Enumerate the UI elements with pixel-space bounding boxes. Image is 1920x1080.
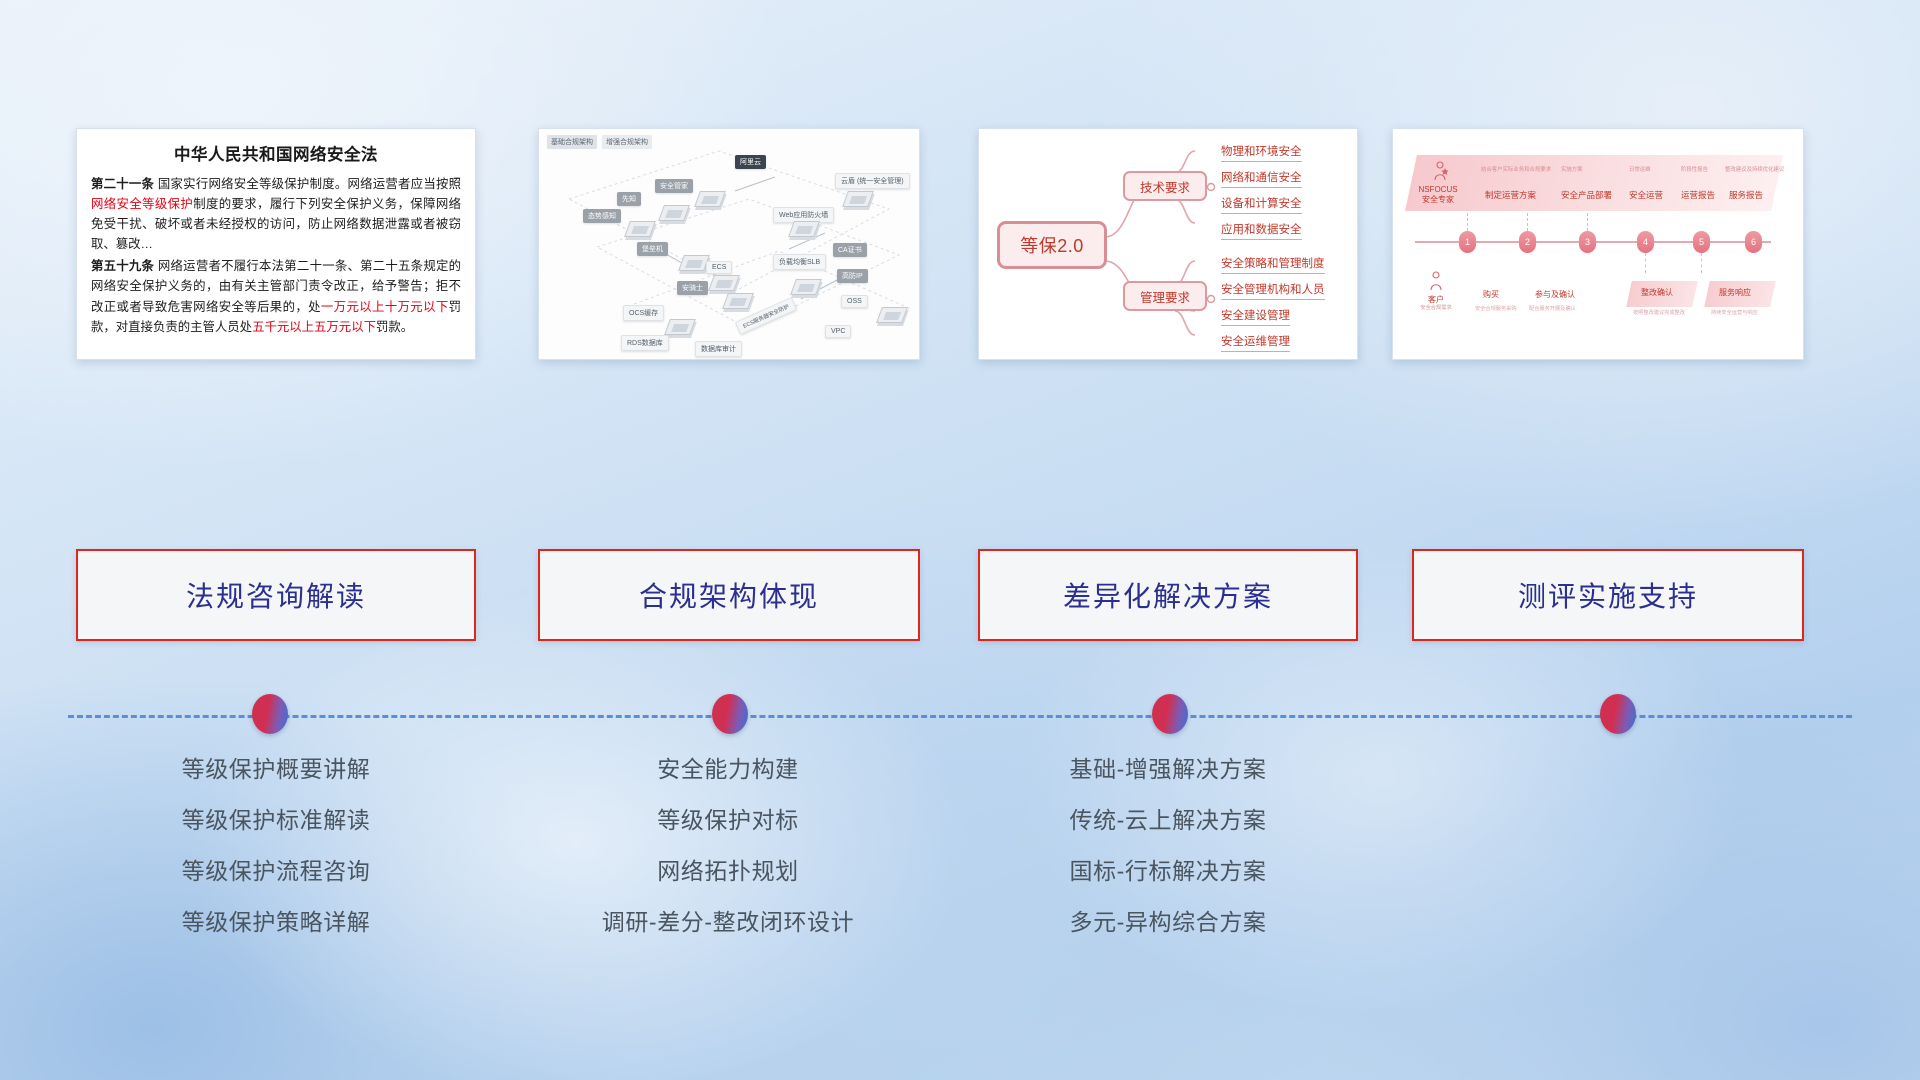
node-ecs: ECS bbox=[706, 261, 732, 274]
node-oss: OSS bbox=[841, 295, 868, 308]
list-item: 安全能力构建 bbox=[528, 744, 928, 795]
step-marker-4: 4 bbox=[1637, 231, 1654, 253]
mindmap-leaf-ops-mgmt: 安全运维管理 bbox=[1221, 333, 1290, 352]
expert-person-icon bbox=[1433, 161, 1449, 181]
node-aliyun: 阿里云 bbox=[735, 155, 766, 169]
node-bastion-host: 堡垒机 bbox=[637, 242, 668, 256]
article-21-text-1: 国家实行网络安全等级保护制度。网络运营者应当按照 bbox=[154, 177, 461, 191]
step-marker-1: 1 bbox=[1459, 231, 1476, 253]
list-item: 等级保护策略详解 bbox=[76, 897, 476, 948]
section-title-box-3[interactable]: 差异化解决方案 bbox=[978, 549, 1358, 641]
step-marker-6: 6 bbox=[1745, 231, 1762, 253]
list-item: 调研-差分-整改闭环设计 bbox=[528, 897, 928, 948]
architecture-diagram: 基础合规架构 增强合规架构 阿里云 bbox=[539, 129, 919, 359]
step-marker-5: 5 bbox=[1693, 231, 1710, 253]
bottom-item-title-1: 购买 bbox=[1483, 289, 1499, 300]
list-item: 等级保护流程咨询 bbox=[76, 846, 476, 897]
article-21-highlight: 网络安全等级保护 bbox=[91, 197, 193, 211]
mindmap-leaf-device-compute: 设备和计算安全 bbox=[1221, 195, 1302, 214]
top-item-sub-2: 实施方案 bbox=[1561, 165, 1583, 173]
card-compliance-architecture[interactable]: 基础合规架构 增强合规架构 阿里云 bbox=[538, 128, 920, 360]
timeline-dashed-line bbox=[68, 715, 1852, 718]
customer-label: 客户 安全合规需求 bbox=[1407, 295, 1465, 312]
list-item: 等级保护标准解读 bbox=[76, 795, 476, 846]
bottom-item-title-3: 整改确认 bbox=[1641, 287, 1673, 298]
node-situation-awareness: 态势感知 bbox=[583, 209, 621, 223]
timeline-node-2[interactable] bbox=[712, 694, 748, 734]
node-security-butler: 安全管家 bbox=[655, 179, 693, 193]
mindmap-root: 等保2.0 bbox=[997, 221, 1107, 269]
top-item-title-3: 安全运营 bbox=[1629, 189, 1663, 201]
list-item: 等级保护对标 bbox=[528, 795, 928, 846]
top-item-title-4: 运营报告 bbox=[1681, 189, 1715, 201]
top-item-sub-3: 日常运维 bbox=[1629, 165, 1651, 173]
detail-column-1: 等级保护概要讲解 等级保护标准解读 等级保护流程咨询 等级保护策略详解 bbox=[76, 744, 476, 948]
list-item: 基础-增强解决方案 bbox=[968, 744, 1368, 795]
section-title-box-4[interactable]: 测评实施支持 bbox=[1412, 549, 1804, 641]
mindmap-leaf-construction-mgmt: 安全建设管理 bbox=[1221, 307, 1290, 326]
node-database-audit: 数据库审计 bbox=[695, 341, 742, 357]
list-item: 多元-异构综合方案 bbox=[968, 897, 1368, 948]
top-item-title-5: 服务报告 bbox=[1729, 189, 1763, 201]
section-detail-lists: 等级保护概要讲解 等级保护标准解读 等级保护流程咨询 等级保护策略详解 安全能力… bbox=[0, 744, 1920, 944]
detail-column-2: 安全能力构建 等级保护对标 网络拓扑规划 调研-差分-整改闭环设计 bbox=[528, 744, 928, 948]
top-item-title-1: 制定运营方案 bbox=[1485, 189, 1536, 201]
article-21-label: 第二十一条 bbox=[91, 177, 154, 191]
section-title-box-2[interactable]: 合规架构体现 bbox=[538, 549, 920, 641]
law-heading: 中华人民共和国网络安全法 bbox=[91, 141, 461, 165]
mindmap-diagram: 等保2.0 技术要求 物理和环境安全 网络和通信安全 设备和计算安全 应用和数据… bbox=[979, 129, 1357, 359]
bottom-item-sub-4: 持续安全运营与响应 bbox=[1711, 309, 1758, 316]
bottom-item-title-2: 参与及确认 bbox=[1535, 289, 1575, 300]
list-item: 网络拓扑规划 bbox=[528, 846, 928, 897]
node-vpc: VPC bbox=[825, 325, 851, 338]
mindmap-leaf-app-data: 应用和数据安全 bbox=[1221, 221, 1302, 240]
top-item-sub-1: 结合客户实际业务和合规要求 bbox=[1481, 165, 1551, 173]
customer-person-icon bbox=[1429, 271, 1445, 291]
mindmap-leaf-policy-system: 安全策略和管理制度 bbox=[1221, 255, 1325, 274]
node-anqishi: 安骑士 bbox=[677, 281, 708, 295]
mindmap-leaf-network-comm: 网络和通信安全 bbox=[1221, 169, 1302, 188]
node-xianzhi: 先知 bbox=[617, 192, 641, 206]
list-item: 国标-行标解决方案 bbox=[968, 846, 1368, 897]
card-cybersecurity-law[interactable]: 中华人民共和国网络安全法 第二十一条 国家实行网络安全等级保护制度。网络运营者应… bbox=[76, 128, 476, 360]
node-ocs-cache: OCS缓存 bbox=[623, 305, 664, 321]
timeline-node-1[interactable] bbox=[252, 694, 288, 734]
mindmap-branch-management: 管理要求 bbox=[1123, 281, 1207, 311]
node-anti-ddos-ip: 高防IP bbox=[837, 269, 868, 283]
top-item-sub-5: 整改建议及持续优化建议 bbox=[1725, 165, 1784, 173]
node-cloud-shield: 云盾 (统一安全管理) bbox=[835, 173, 910, 189]
illustration-card-row: 中华人民共和国网络安全法 第二十一条 国家实行网络安全等级保护制度。网络运营者应… bbox=[0, 128, 1920, 360]
top-item-title-2: 安全产品部署 bbox=[1561, 189, 1612, 201]
article-59-text-3: 罚款。 bbox=[376, 320, 413, 334]
card-nsfocus-service-flow[interactable]: NSFOCUS 安全专家 结合客户实际业务和合规要求 制定运营方案 实施方案 安… bbox=[1392, 128, 1804, 360]
article-59-highlight-2: 五千元以上五万元以下 bbox=[252, 320, 376, 334]
connector-dash-4 bbox=[1645, 253, 1646, 273]
bottom-item-sub-1: 安全合规服务采购 bbox=[1475, 305, 1517, 312]
step-marker-3: 3 bbox=[1579, 231, 1596, 253]
list-item: 等级保护概要讲解 bbox=[76, 744, 476, 795]
timeline-node-3[interactable] bbox=[1152, 694, 1188, 734]
section-title-label-3: 差异化解决方案 bbox=[1063, 575, 1273, 615]
node-ca-certificate: CA证书 bbox=[833, 243, 867, 257]
node-load-balancer-slb: 负载均衡SLB bbox=[773, 254, 826, 270]
node-rds-database: RDS数据库 bbox=[621, 335, 669, 351]
connector-dash-2 bbox=[1527, 213, 1528, 231]
timeline-node-4[interactable] bbox=[1600, 694, 1636, 734]
detail-column-3: 基础-增强解决方案 传统-云上解决方案 国标-行标解决方案 多元-异构综合方案 bbox=[968, 744, 1368, 948]
list-item: 传统-云上解决方案 bbox=[968, 795, 1368, 846]
section-title-row: 法规咨询解读 合规架构体现 差异化解决方案 测评实施支持 bbox=[0, 549, 1920, 641]
connector-dash-3 bbox=[1587, 213, 1588, 231]
expert-name: NSFOCUS bbox=[1407, 185, 1469, 195]
connector-dash-5 bbox=[1701, 253, 1702, 273]
section-title-label-4: 测评实施支持 bbox=[1518, 575, 1698, 615]
bottom-item-title-4: 服务响应 bbox=[1719, 287, 1751, 298]
mindmap-branch-technical: 技术要求 bbox=[1123, 171, 1207, 201]
mindmap-leaf-org-personnel: 安全管理机构和人员 bbox=[1221, 281, 1325, 300]
bottom-item-sub-3: 按照整改建议完成整改 bbox=[1633, 309, 1685, 316]
article-59-label: 第五十九条 bbox=[91, 259, 154, 273]
nsfocus-diagram: NSFOCUS 安全专家 结合客户实际业务和合规要求 制定运营方案 实施方案 安… bbox=[1393, 129, 1803, 359]
expert-role: 安全专家 bbox=[1407, 195, 1469, 205]
law-article-21: 第二十一条 国家实行网络安全等级保护制度。网络运营者应当按照网络安全等级保护制度… bbox=[91, 174, 461, 254]
bottom-item-sub-2: 配合服务开展及确认 bbox=[1529, 305, 1576, 312]
card-dengbao-mindmap[interactable]: 等保2.0 技术要求 物理和环境安全 网络和通信安全 设备和计算安全 应用和数据… bbox=[978, 128, 1358, 360]
customer-title: 客户 bbox=[1428, 295, 1444, 304]
law-article-59: 第五十九条 网络运营者不履行本法第二十一条、第二十五条规定的网络安全保护义务的，… bbox=[91, 256, 461, 336]
top-item-sub-4: 阶段性报告 bbox=[1681, 165, 1708, 173]
section-title-label-1: 法规咨询解读 bbox=[186, 575, 366, 615]
article-59-highlight-1: 一万元以上十万元以下 bbox=[321, 300, 449, 314]
step-marker-2: 2 bbox=[1519, 231, 1536, 253]
timeline bbox=[0, 694, 1920, 738]
section-title-label-2: 合规架构体现 bbox=[639, 575, 819, 615]
expert-label: NSFOCUS 安全专家 bbox=[1407, 185, 1469, 205]
section-title-box-1[interactable]: 法规咨询解读 bbox=[76, 549, 476, 641]
connector-dash-1 bbox=[1467, 213, 1468, 231]
customer-sub: 安全合规需求 bbox=[1407, 305, 1465, 312]
mindmap-leaf-physical-env: 物理和环境安全 bbox=[1221, 143, 1302, 162]
